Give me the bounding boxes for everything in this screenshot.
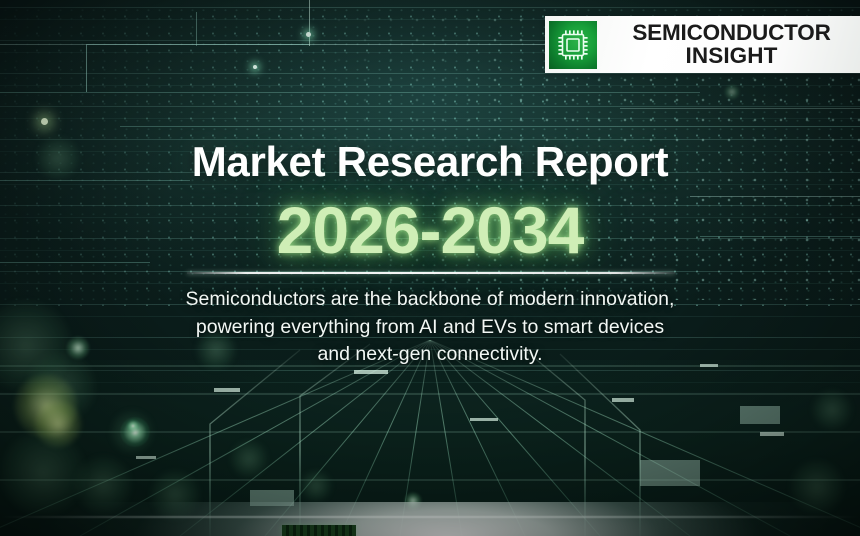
subtitle-line-1: Semiconductors are the backbone of moder… (0, 286, 860, 314)
logo-line-1: SEMICONDUCTOR (603, 22, 860, 45)
logo-wordmark: SEMICONDUCTOR INSIGHT (597, 22, 860, 68)
page-title: Market Research Report (0, 138, 860, 186)
logo-line-2: INSIGHT (603, 45, 860, 68)
semiconductor-insight-logo[interactable]: SEMICONDUCTOR INSIGHT (545, 16, 860, 73)
subtitle: Semiconductors are the backbone of moder… (0, 286, 860, 369)
microchip-icon (549, 21, 597, 69)
market-research-report-poster: SEMICONDUCTOR INSIGHT Market Research Re… (0, 0, 860, 536)
divider (187, 272, 675, 274)
year-range: 2026-2034 (0, 192, 860, 268)
subtitle-line-3: and next-gen connectivity. (0, 341, 860, 369)
subtitle-line-2: powering everything from AI and EVs to s… (0, 314, 860, 342)
hero-content: Market Research Report 2026-2034 Semicon… (0, 0, 860, 536)
